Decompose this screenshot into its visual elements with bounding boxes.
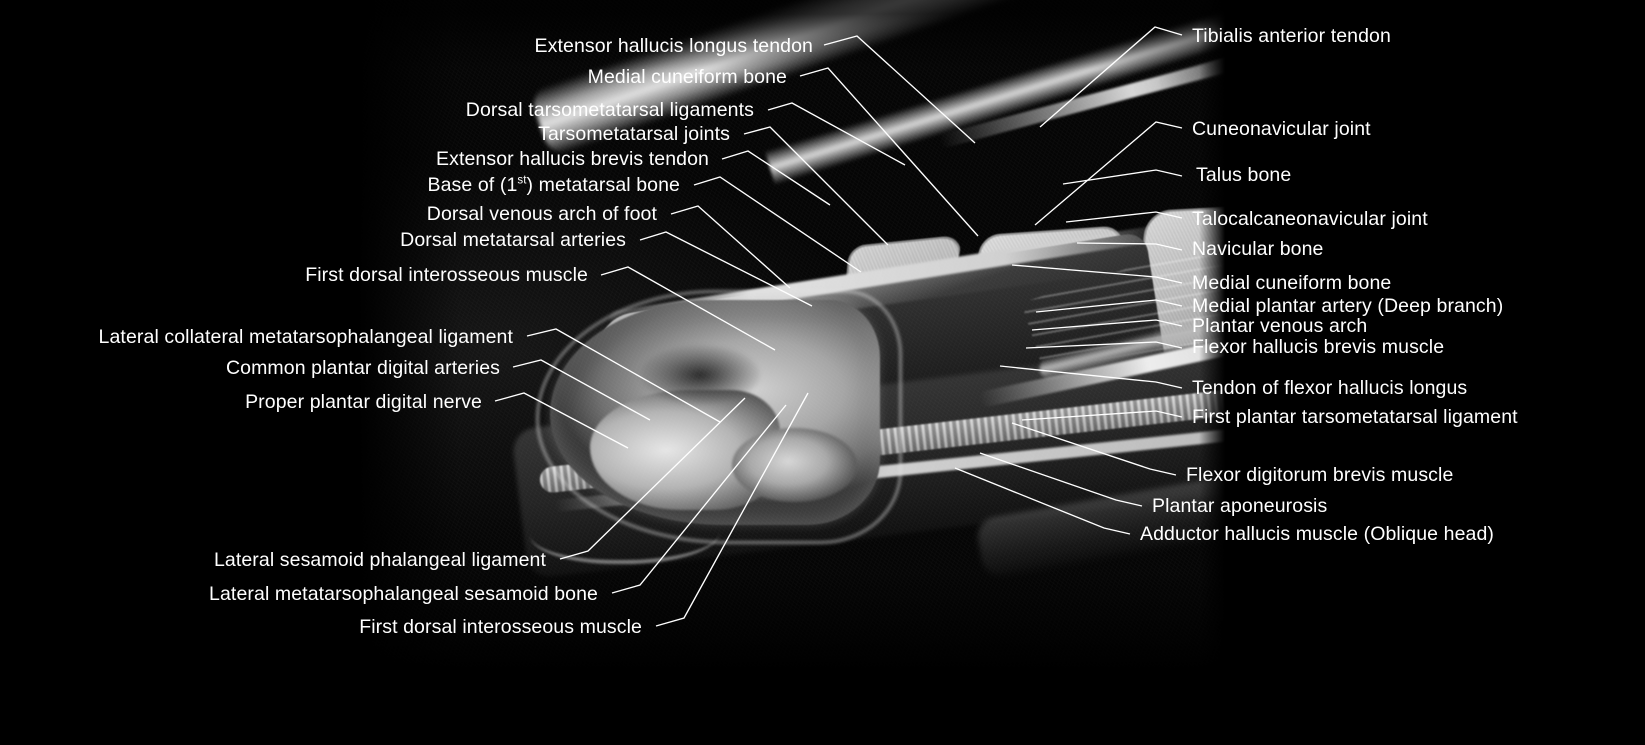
label-plantar-aponeurosis: Plantar aponeurosis xyxy=(1152,497,1327,517)
label-medial-cuneiform-bone-dorsal: Medial cuneiform bone xyxy=(0,68,787,88)
label-base-of-first-metatarsal-bone: Base of (1st) metatarsal bone xyxy=(0,176,680,196)
label-plantar-venous-arch: Plantar venous arch xyxy=(1192,317,1367,337)
label-dorsal-tarsometatarsal-ligaments: Dorsal tarsometatarsal ligaments xyxy=(0,101,754,121)
figure-canvas: Extensor hallucis longus tendonMedial cu… xyxy=(0,0,1645,745)
label-extensor-hallucis-brevis-tendon: Extensor hallucis brevis tendon xyxy=(0,150,709,170)
label-talocalcaneonavicular-joint: Talocalcaneonavicular joint xyxy=(1192,210,1428,230)
label-lateral-collateral-metatarsophalangeal-ligament: Lateral collateral metatarsophalangeal l… xyxy=(0,328,513,348)
label-medial-plantar-artery-deep-branch: Medial plantar artery (Deep branch) xyxy=(1192,297,1503,317)
label-proper-plantar-digital-nerve: Proper plantar digital nerve xyxy=(0,393,482,413)
label-tarsometatarsal-joints: Tarsometatarsal joints xyxy=(0,125,730,145)
label-tibialis-anterior-tendon: Tibialis anterior tendon xyxy=(1192,27,1391,47)
label-navicular-bone: Navicular bone xyxy=(1192,240,1323,260)
label-flexor-digitorum-brevis-muscle: Flexor digitorum brevis muscle xyxy=(1186,466,1453,486)
label-lateral-sesamoid-phalangeal-ligament: Lateral sesamoid phalangeal ligament xyxy=(0,551,546,571)
label-dorsal-venous-arch-of-foot: Dorsal venous arch of foot xyxy=(0,205,657,225)
label-adductor-hallucis-muscle-oblique-head: Adductor hallucis muscle (Oblique head) xyxy=(1140,525,1494,545)
label-common-plantar-digital-arteries: Common plantar digital arteries xyxy=(0,359,500,379)
label-tendon-of-flexor-hallucis-longus: Tendon of flexor hallucis longus xyxy=(1192,379,1467,399)
label-first-dorsal-interosseous-muscle-bottom: First dorsal interosseous muscle xyxy=(0,618,642,638)
label-cuneonavicular-joint: Cuneonavicular joint xyxy=(1192,120,1371,140)
label-extensor-hallucis-longus-tendon: Extensor hallucis longus tendon xyxy=(0,37,813,57)
label-dorsal-metatarsal-arteries: Dorsal metatarsal arteries xyxy=(0,231,626,251)
label-first-dorsal-interosseous-muscle-top: First dorsal interosseous muscle xyxy=(0,266,588,286)
label-lateral-metatarsophalangeal-sesamoid-bone: Lateral metatarsophalangeal sesamoid bon… xyxy=(0,585,598,605)
label-flexor-hallucis-brevis-muscle: Flexor hallucis brevis muscle xyxy=(1192,338,1444,358)
label-talus-bone: Talus bone xyxy=(1196,166,1291,186)
label-first-plantar-tarsometatarsal-ligament: First plantar tarsometatarsal ligament xyxy=(1192,408,1518,428)
label-medial-cuneiform-bone-plantar: Medial cuneiform bone xyxy=(1192,274,1391,294)
